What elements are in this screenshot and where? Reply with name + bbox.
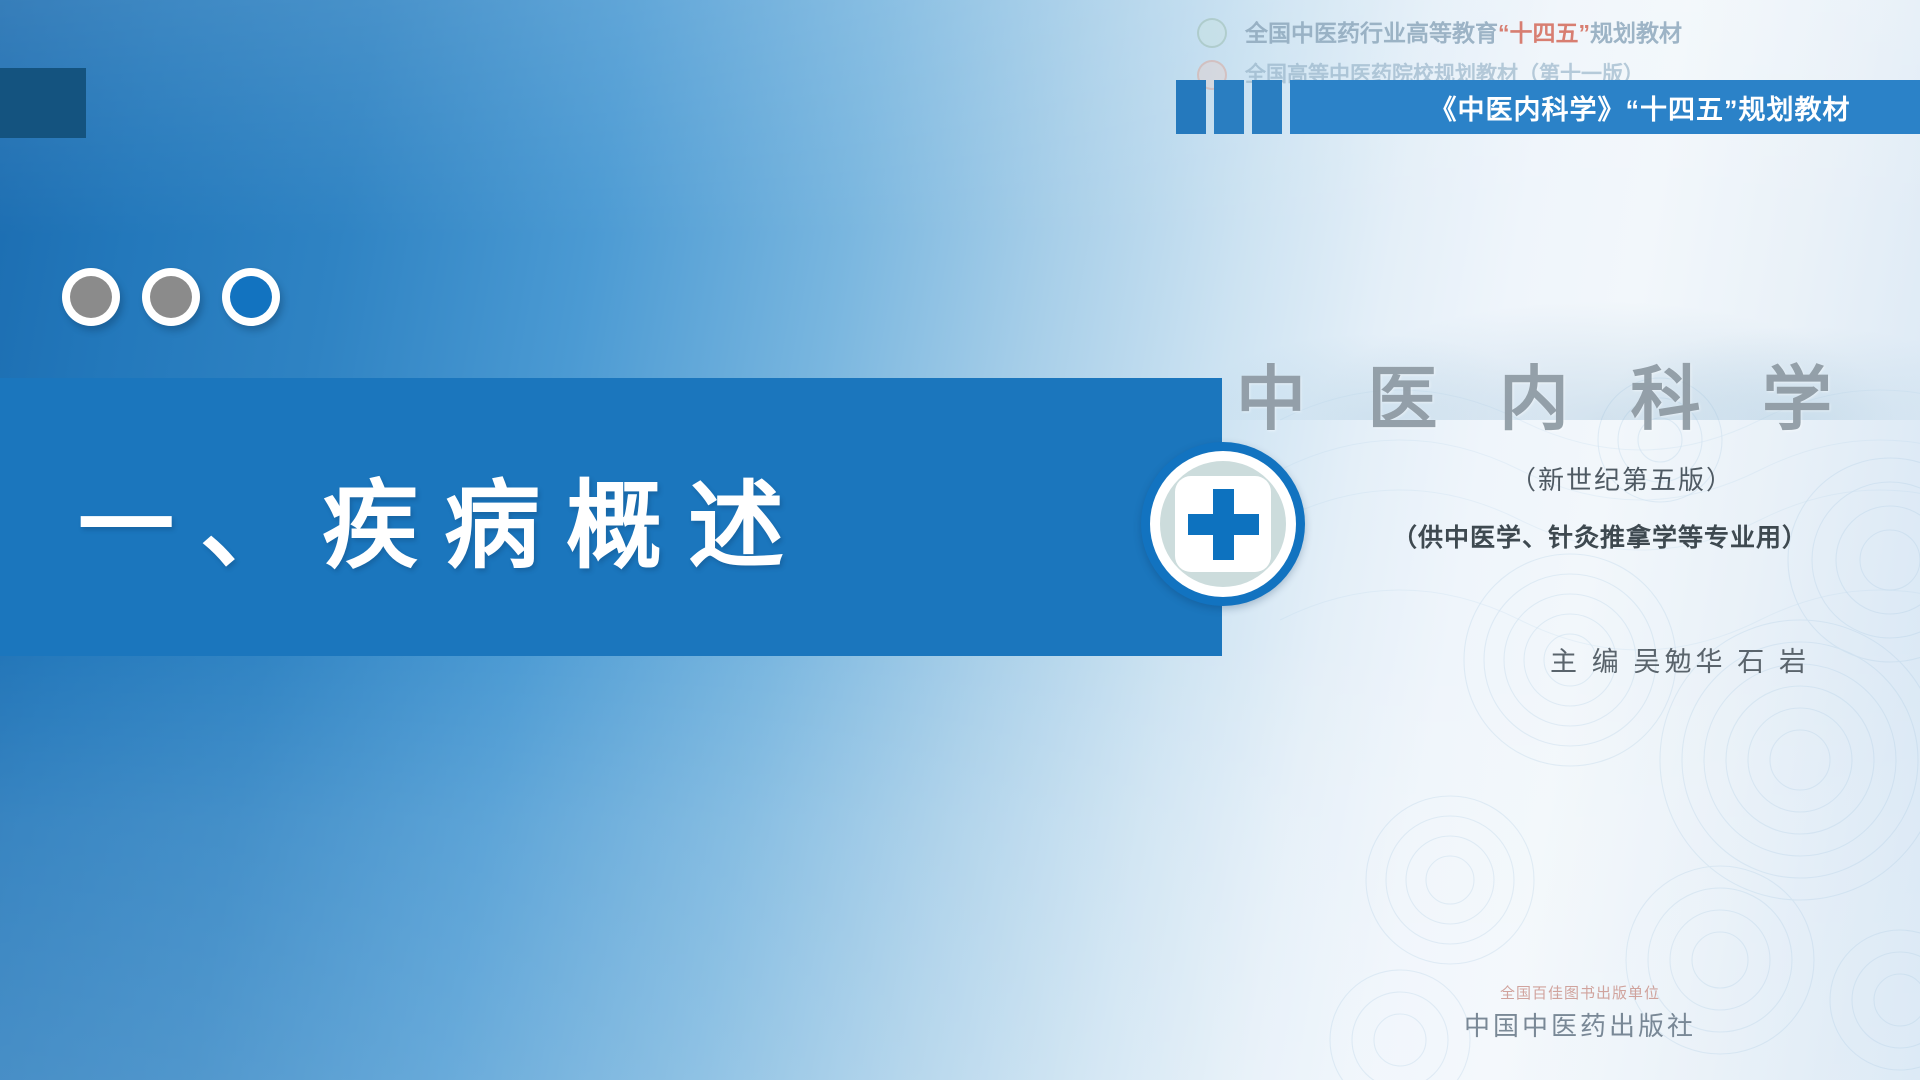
book-cover-audience: （供中医学、针灸推拿学等专业用） xyxy=(1392,518,1912,554)
series-seal-icon-1 xyxy=(1197,18,1227,48)
book-cover-title: 中 医 内 科 学 xyxy=(1236,343,1896,444)
page-title: 一、疾病概述 xyxy=(78,378,1138,656)
header-block-3 xyxy=(1252,80,1282,134)
dot-gray-1-fill xyxy=(70,276,112,318)
dot-gray-2[interactable] xyxy=(142,268,200,326)
header-strip: 《中医内科学》“十四五”规划教材 xyxy=(1176,80,1920,134)
book-cover-edition: （新世纪第五版） xyxy=(1510,460,1910,497)
series-line-1-text: 全国中医药行业高等教育 xyxy=(1245,20,1498,46)
dot-blue-active[interactable] xyxy=(222,268,280,326)
dot-indicator-group xyxy=(62,268,280,326)
top-left-accent-block xyxy=(0,68,86,138)
slide-canvas: 全国中医药行业高等教育“十四五”规划教材 全国高等中医药院校规划教材（第十一版）… xyxy=(0,0,1920,1080)
emblem-white-ring xyxy=(1150,451,1296,597)
dot-gray-1[interactable] xyxy=(62,268,120,326)
series-line-1: 全国中医药行业高等教育“十四五”规划教材 xyxy=(1245,14,1682,48)
header-title-bar: 《中医内科学》“十四五”规划教材 xyxy=(1290,80,1920,134)
emblem-inner-circle xyxy=(1160,461,1286,587)
emblem-cross-plate xyxy=(1175,476,1271,572)
medical-cross-icon xyxy=(1141,442,1305,606)
header-block-2 xyxy=(1214,80,1244,134)
book-cover-editors: 主 编 吴勉华 石 岩 xyxy=(1550,640,1920,679)
publisher-badge: 全国百佳图书出版单位 xyxy=(1455,982,1705,1003)
publisher-name: 中国中医药出版社 xyxy=(1420,1006,1740,1043)
dot-blue-active-fill xyxy=(230,276,272,318)
series-line-1-tail: 规划教材 xyxy=(1590,20,1682,46)
series-line-1-highlight: “十四五” xyxy=(1498,20,1590,46)
header-title-text: 《中医内科学》“十四五”规划教材 xyxy=(1430,88,1851,127)
header-block-1 xyxy=(1176,80,1206,134)
dot-gray-2-fill xyxy=(150,276,192,318)
